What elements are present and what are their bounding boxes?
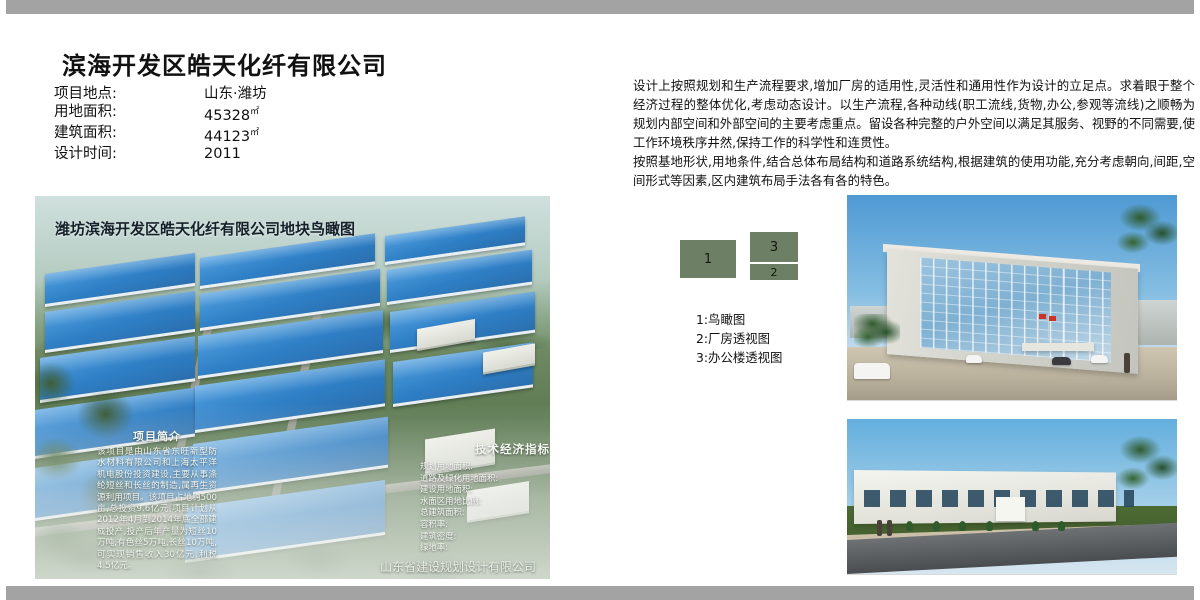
project-intro-block: 项目简介 该项目是由山东省东旺新型防水材料有限公司和上海太平洋机电股份投资建设,… — [97, 428, 217, 572]
indicator-label: 容积率: — [420, 519, 454, 531]
shrub — [986, 521, 993, 531]
indicator-row: 总建筑面积: 353890㎡ — [420, 507, 550, 519]
shrub — [906, 521, 913, 531]
indicator-row: 水面区用地比例: 6.98% — [420, 496, 550, 508]
key-map-diagram: 1 3 2 — [662, 230, 822, 288]
shrub — [1058, 521, 1065, 531]
aerial-image-caption: 潍坊滨海开发区皓天化纤有限公司地块鸟瞰图 — [55, 218, 355, 239]
indicator-row: 道路及绿化用地面积: 12404㎡ — [420, 473, 550, 485]
indicator-label: 道路及绿化用地面积: — [420, 473, 504, 485]
key-cell-1: 1 — [680, 240, 736, 278]
car — [1052, 357, 1072, 365]
indicator-label: 建设用地面积: — [420, 484, 479, 496]
spec-row: 设计时间: 2011 — [54, 146, 267, 164]
description-paragraph: 设计上按照规划和生产流程要求,增加厂房的适用性,灵活性和通用性作为设计的立足点。… — [633, 76, 1195, 152]
spec-value: 山东·潍坊 — [204, 86, 267, 104]
tree — [1111, 199, 1177, 261]
spec-label: 建筑面积: — [54, 125, 204, 146]
shrub — [933, 521, 940, 531]
viewer-bottom-bar — [6, 586, 1194, 600]
indicator-label: 总建筑面积: — [420, 507, 471, 519]
flagpole-icon — [1048, 314, 1049, 341]
spec-row: 项目地点: 山东·潍坊 — [54, 86, 267, 104]
spec-value: 2011 — [204, 146, 241, 164]
key-cell-3: 3 — [750, 232, 798, 262]
indicator-row: 建设用地面积: 319986㎡ — [420, 484, 550, 496]
right-column: 设计上按照规划和生产流程要求,增加厂房的适用性,灵活性和通用性作为设计的立足点。… — [600, 14, 1200, 586]
factory-perspective-image — [847, 419, 1177, 575]
person — [1124, 353, 1130, 373]
person — [887, 520, 892, 536]
technical-indicators-title: 技术经济指标 — [420, 441, 550, 457]
tree — [1111, 428, 1177, 499]
shrub — [959, 521, 966, 531]
flagpole-icon — [1038, 312, 1039, 341]
indicator-label: 绿地率: — [420, 542, 454, 554]
indicator-row: 规划用地面积: 332390㎡ — [420, 461, 550, 473]
indicator-label: 规划用地面积: — [420, 461, 479, 473]
key-cell-2: 2 — [750, 264, 798, 280]
spec-value: 44123㎡ — [204, 125, 259, 146]
key-map-legend: 1:鸟瞰图 2:厂房透视图 3:办公楼透视图 — [696, 310, 782, 367]
design-firm-credit: 山东省建设规划设计有限公司 — [380, 558, 536, 575]
design-description: 设计上按照规划和生产流程要求,增加厂房的适用性,灵活性和通用性作为设计的立足点。… — [633, 76, 1195, 190]
unit-area: ㎡ — [250, 128, 259, 138]
spec-label: 设计时间: — [54, 146, 204, 164]
spec-value: 45328㎡ — [204, 104, 259, 125]
car — [966, 355, 983, 363]
office-building-perspective-image — [847, 195, 1177, 401]
description-paragraph: 按照基地形状,用地条件,结合总体布局结构和道路系统结构,根据建筑的使用功能,充分… — [633, 152, 1195, 190]
office-entrance-canopy — [1022, 343, 1095, 351]
viewer-top-bar — [6, 0, 1194, 14]
spec-label: 项目地点: — [54, 86, 204, 104]
tree — [854, 314, 900, 347]
project-intro-title: 项目简介 — [97, 428, 217, 444]
unit-area: ㎡ — [250, 107, 259, 117]
indicator-row: 建筑密度: 52.2% — [420, 531, 550, 543]
legend-item: 1:鸟瞰图 — [696, 310, 782, 329]
spec-label: 用地面积: — [54, 104, 204, 125]
person — [877, 520, 882, 536]
indicator-label: 建筑密度: — [420, 531, 462, 543]
technical-indicators-block: 技术经济指标 规划用地面积: 332390㎡ 道路及绿化用地面积: 12404㎡… — [420, 441, 550, 554]
project-spec-table: 项目地点: 山东·潍坊 用地面积: 45328㎡ 建筑面积: 44123㎡ 设计… — [54, 86, 267, 164]
legend-item: 3:办公楼透视图 — [696, 348, 782, 367]
factory-entrance — [996, 497, 1026, 522]
indicator-label: 水面区用地比例: — [420, 496, 487, 508]
aerial-view-image: 潍坊滨海开发区皓天化纤有限公司地块鸟瞰图 项目简介 该项目是由山东省东旺新型防水… — [35, 196, 550, 579]
left-column: 滨海开发区皓天化纤有限公司 项目地点: 山东·潍坊 用地面积: 45328㎡ 建… — [0, 14, 600, 586]
project-intro-body: 该项目是由山东省东旺新型防水材料有限公司和上海太平洋机电股份投资建设,主要从事涤… — [97, 447, 217, 572]
indicator-row: 绿地率: 14.3% — [420, 542, 550, 554]
legend-item: 2:厂房透视图 — [696, 329, 782, 348]
spec-row: 用地面积: 45328㎡ — [54, 104, 267, 125]
shrub — [1032, 521, 1039, 531]
indicator-row: 容积率: 1.11 — [420, 519, 550, 531]
page-title: 滨海开发区皓天化纤有限公司 — [62, 46, 387, 81]
spec-row: 建筑面积: 44123㎡ — [54, 125, 267, 146]
car — [854, 363, 890, 379]
car — [1091, 355, 1108, 363]
